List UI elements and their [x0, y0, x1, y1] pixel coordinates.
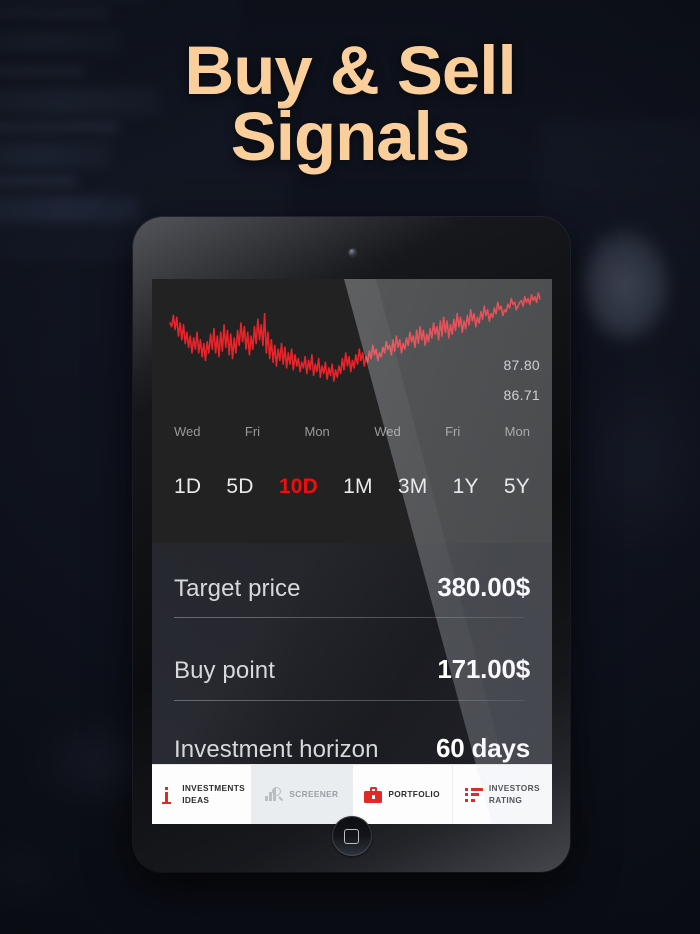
range-button-1d[interactable]: 1D	[174, 475, 201, 499]
range-button-10d[interactable]: 10D	[279, 475, 318, 499]
detail-divider	[174, 700, 524, 701]
tab-investors-rating[interactable]: INVESTORS RATING	[453, 765, 552, 824]
info-i-icon	[158, 786, 176, 804]
tab-portfolio[interactable]: PORTFOLIO	[353, 765, 453, 824]
detail-value: 171.00$	[437, 654, 530, 685]
signal-details-panel: Target price 380.00$ Buy point 171.00$ I…	[152, 543, 552, 764]
detail-value: 380.00$	[437, 572, 530, 603]
time-range-selector[interactable]: 1D 5D 10D 1M 3M 1Y 5Y	[152, 475, 552, 499]
tablet-screen: 87.80 86.71 Wed Fri Mon Wed Fri Mon 1D 5…	[152, 279, 552, 824]
front-camera-icon	[349, 249, 356, 256]
range-button-3m[interactable]: 3M	[398, 475, 428, 499]
price-label-low: 86.71	[503, 387, 540, 403]
tab-label: INVESTORS RATING	[489, 783, 540, 805]
tab-label: SCREENER	[289, 789, 338, 800]
bottom-tab-bar[interactable]: INVESTMENTS IDEAS SCREENER PORTFOLIO	[152, 764, 552, 824]
briefcase-icon	[364, 786, 382, 804]
range-button-1m[interactable]: 1M	[343, 475, 373, 499]
headline: Buy & Sell Signals	[0, 38, 700, 170]
chart-x-axis: Wed Fri Mon Wed Fri Mon	[152, 424, 552, 439]
headline-line-2: Signals	[0, 104, 700, 170]
tab-label: PORTFOLIO	[388, 789, 440, 800]
x-tick-label: Mon	[505, 424, 530, 439]
range-button-5y[interactable]: 5Y	[504, 475, 530, 499]
price-line-chart	[152, 287, 552, 387]
headline-line-1: Buy & Sell	[0, 38, 700, 104]
x-tick-label: Wed	[174, 424, 201, 439]
chart-panel: 87.80 86.71 Wed Fri Mon Wed Fri Mon 1D 5…	[152, 279, 552, 543]
x-tick-label: Mon	[304, 424, 329, 439]
tab-investments-ideas[interactable]: INVESTMENTS IDEAS	[152, 765, 252, 824]
tab-label: INVESTMENTS IDEAS	[182, 783, 245, 805]
tab-screener[interactable]: SCREENER	[252, 765, 352, 824]
x-tick-label: Fri	[445, 424, 460, 439]
detail-row-buy-point: Buy point 171.00$	[174, 654, 530, 685]
range-button-5d[interactable]: 5D	[226, 475, 253, 499]
tablet-device: 87.80 86.71 Wed Fri Mon Wed Fri Mon 1D 5…	[133, 217, 570, 872]
detail-row-investment-horizon: Investment horizon 60 days	[174, 733, 530, 764]
detail-label: Investment horizon	[174, 736, 379, 764]
detail-label: Buy point	[174, 657, 275, 685]
x-tick-label: Fri	[245, 424, 260, 439]
ratings-list-icon	[465, 786, 483, 804]
x-tick-label: Wed	[374, 424, 401, 439]
home-button-square-icon	[344, 829, 359, 844]
home-button[interactable]	[332, 816, 372, 856]
screener-icon	[265, 786, 283, 804]
detail-label: Target price	[174, 575, 301, 603]
detail-value: 60 days	[436, 733, 530, 764]
detail-divider	[174, 617, 524, 618]
range-button-1y[interactable]: 1Y	[453, 475, 479, 499]
detail-row-target-price: Target price 380.00$	[174, 572, 530, 603]
price-label-high: 87.80	[503, 357, 540, 373]
